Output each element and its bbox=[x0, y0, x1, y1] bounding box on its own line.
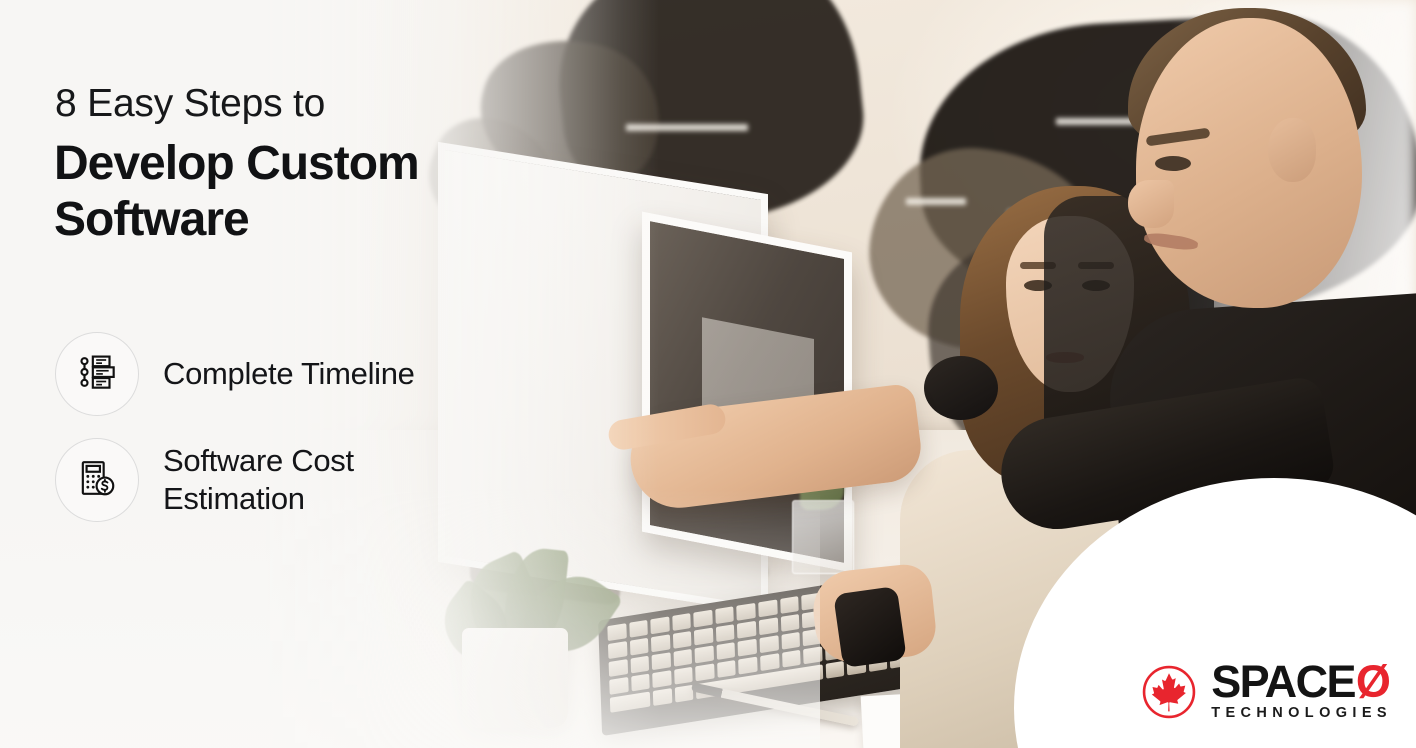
kicker-text: 8 Easy Steps to bbox=[55, 84, 325, 123]
brand-logo[interactable]: SPACE Ø TECHNOLOGIES bbox=[1141, 661, 1394, 722]
feature-item-complete-timeline: Complete Timeline bbox=[55, 332, 415, 416]
feature-item-software-cost-estimation: Software Cost Estimation bbox=[55, 438, 415, 522]
logo-accent-glyph: Ø bbox=[1356, 661, 1389, 704]
feature-label: Software Cost Estimation bbox=[163, 442, 354, 518]
feature-label: Complete Timeline bbox=[163, 355, 415, 393]
logo-tagline: TECHNOLOGIES bbox=[1211, 705, 1394, 721]
content-panel: 8 Easy Steps to Develop Custom Software bbox=[0, 0, 700, 748]
maple-leaf-circle-icon bbox=[1141, 664, 1197, 720]
coffee-cup bbox=[924, 356, 998, 420]
feature-icon-circle bbox=[55, 438, 139, 522]
page-title: Develop Custom Software bbox=[54, 136, 614, 247]
feature-icon-circle bbox=[55, 332, 139, 416]
logo-name: SPACE bbox=[1211, 661, 1355, 704]
calculator-dollar-icon bbox=[77, 458, 117, 503]
wrist-watch bbox=[833, 586, 907, 668]
marketing-banner: 8 Easy Steps to Develop Custom Software bbox=[0, 0, 1416, 748]
timeline-icon bbox=[77, 352, 117, 397]
logo-text: SPACE Ø TECHNOLOGIES bbox=[1211, 661, 1394, 722]
feature-list: Complete Timeline bbox=[55, 332, 415, 544]
